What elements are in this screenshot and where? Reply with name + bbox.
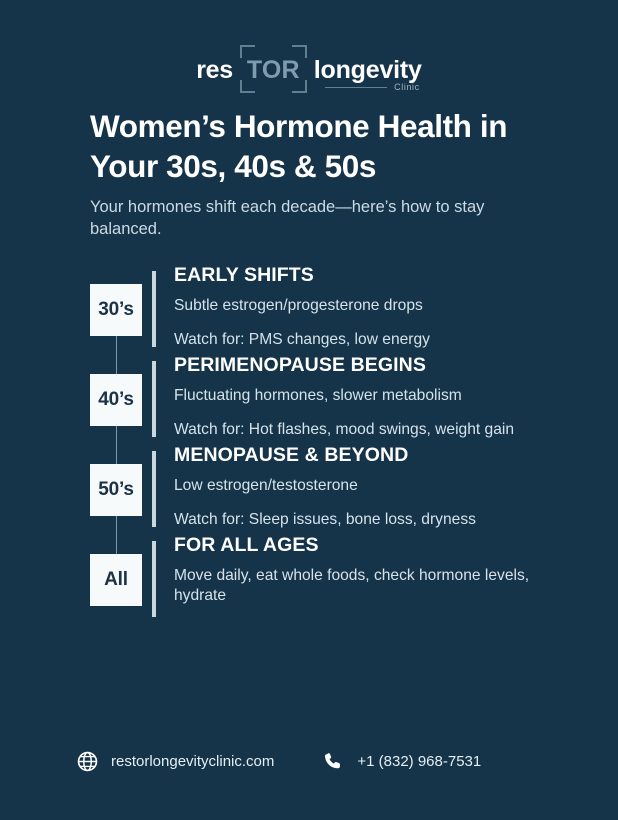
timeline-content: PERIMENOPAUSE BEGINS Fluctuating hormone… bbox=[156, 355, 618, 440]
section-line-primary: Subtle estrogen/progesterone drops bbox=[174, 296, 578, 316]
footer-phone-text: +1 (832) 968-7531 bbox=[357, 753, 481, 770]
footer-phone[interactable]: +1 (832) 968-7531 bbox=[322, 750, 481, 772]
decade-badge: 40’s bbox=[90, 374, 142, 426]
logo-text-res: res bbox=[196, 56, 233, 85]
crop-mark-top-right-icon bbox=[292, 45, 307, 58]
logo-tor-framed: TOR bbox=[242, 56, 305, 85]
crop-mark-bottom-left-icon bbox=[240, 80, 255, 93]
logo-divider-rule bbox=[325, 87, 387, 88]
logo-lockup: res TOR longevity Clinic bbox=[196, 56, 422, 85]
logo-text-clinic: Clinic bbox=[394, 82, 420, 92]
section-line-watchfor: Watch for: Hot flashes, mood swings, wei… bbox=[174, 420, 578, 440]
phone-icon bbox=[322, 750, 344, 772]
badge-column: 50’s bbox=[90, 464, 152, 516]
badge-column: 30’s bbox=[90, 284, 152, 336]
section-line-watchfor: Watch for: PMS changes, low energy bbox=[174, 330, 578, 350]
logo-subtitle-group: Clinic bbox=[325, 82, 420, 92]
section-line-primary: Low estrogen/testosterone bbox=[174, 476, 578, 496]
timeline-content: MENOPAUSE & BEYOND Low estrogen/testoste… bbox=[156, 445, 618, 530]
section-title: PERIMENOPAUSE BEGINS bbox=[174, 355, 578, 376]
timeline-content: EARLY SHIFTS Subtle estrogen/progesteron… bbox=[156, 265, 618, 350]
timeline-row: All FOR ALL AGES Move daily, eat whole f… bbox=[90, 535, 618, 625]
crop-mark-bottom-right-icon bbox=[292, 80, 307, 93]
decade-badge: 30’s bbox=[90, 284, 142, 336]
section-line-watchfor: Watch for: Sleep issues, bone loss, dryn… bbox=[174, 510, 578, 530]
page-subtitle: Your hormones shift each decade—here’s h… bbox=[90, 197, 520, 241]
section-title: EARLY SHIFTS bbox=[174, 265, 578, 286]
timeline-row: 40’s PERIMENOPAUSE BEGINS Fluctuating ho… bbox=[90, 355, 618, 445]
section-title: FOR ALL AGES bbox=[174, 535, 578, 556]
header-block: Women’s Hormone Health in Your 30s, 40s … bbox=[0, 85, 618, 241]
decade-badge: All bbox=[90, 554, 142, 606]
globe-icon bbox=[76, 750, 98, 772]
logo-text-longevity: longevity bbox=[314, 56, 422, 85]
timeline-row: 50’s MENOPAUSE & BEYOND Low estrogen/tes… bbox=[90, 445, 618, 535]
badge-column: 40’s bbox=[90, 374, 152, 426]
badge-column: All bbox=[90, 554, 152, 606]
crop-mark-top-left-icon bbox=[240, 45, 255, 58]
timeline-row: 30’s EARLY SHIFTS Subtle estrogen/proges… bbox=[90, 265, 618, 355]
brand-logo: res TOR longevity Clinic bbox=[0, 0, 618, 85]
section-line-primary: Fluctuating hormones, slower metabolism bbox=[174, 386, 578, 406]
decade-timeline: 30’s EARLY SHIFTS Subtle estrogen/proges… bbox=[0, 265, 618, 625]
footer-website[interactable]: restorlongevityclinic.com bbox=[76, 750, 274, 772]
page-title: Women’s Hormone Health in Your 30s, 40s … bbox=[90, 107, 540, 186]
footer-contact-bar: restorlongevityclinic.com +1 (832) 968-7… bbox=[0, 750, 618, 772]
decade-badge: 50’s bbox=[90, 464, 142, 516]
section-title: MENOPAUSE & BEYOND bbox=[174, 445, 578, 466]
timeline-content: FOR ALL AGES Move daily, eat whole foods… bbox=[156, 535, 618, 606]
footer-website-text: restorlongevityclinic.com bbox=[111, 753, 274, 770]
section-line-primary: Move daily, eat whole foods, check hormo… bbox=[174, 566, 578, 606]
